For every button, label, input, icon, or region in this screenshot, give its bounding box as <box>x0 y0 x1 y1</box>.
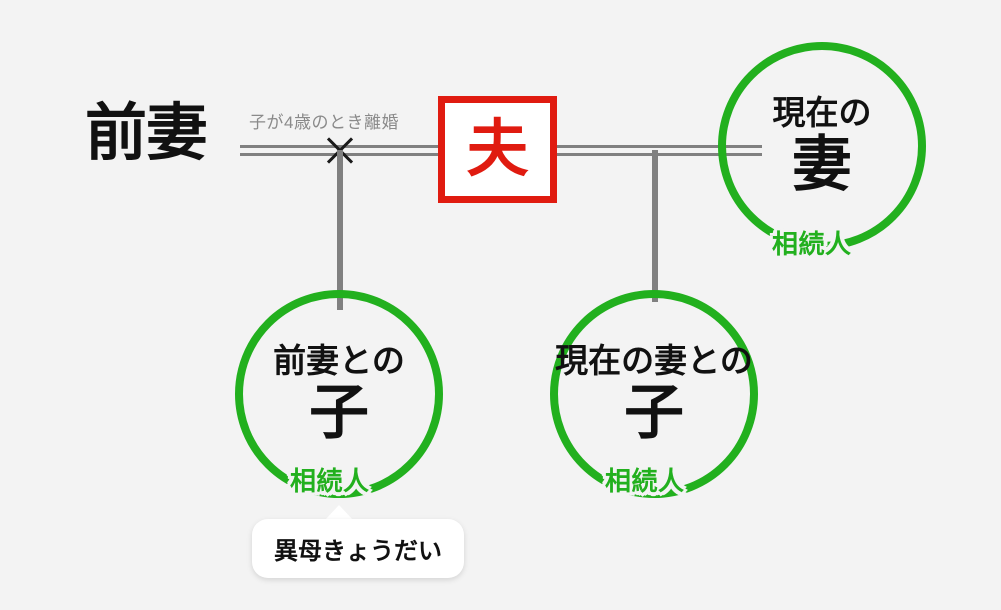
descent-line-child-former <box>337 150 343 310</box>
node-husband: 夫 <box>438 96 557 203</box>
node-former-wife: 前妻 <box>85 103 207 165</box>
heir-badge-child-current: 相続人 <box>605 461 685 498</box>
heir-badge-current-wife: 相続人 <box>772 224 852 261</box>
heir-badge-child-former: 相続人 <box>290 461 370 498</box>
node-current-wife-circle <box>718 42 926 250</box>
half-siblings-callout: 異母きょうだい <box>252 519 464 578</box>
divorce-note: 子が4歳のとき離婚 <box>249 108 399 133</box>
node-husband-label: 夫 <box>466 119 528 181</box>
descent-line-child-current <box>652 150 658 302</box>
family-tree-diagram: 前妻 子が4歳のとき離婚 夫 現在の 妻 相続人 前妻との 子 相続人 現在の妻… <box>0 0 1001 610</box>
